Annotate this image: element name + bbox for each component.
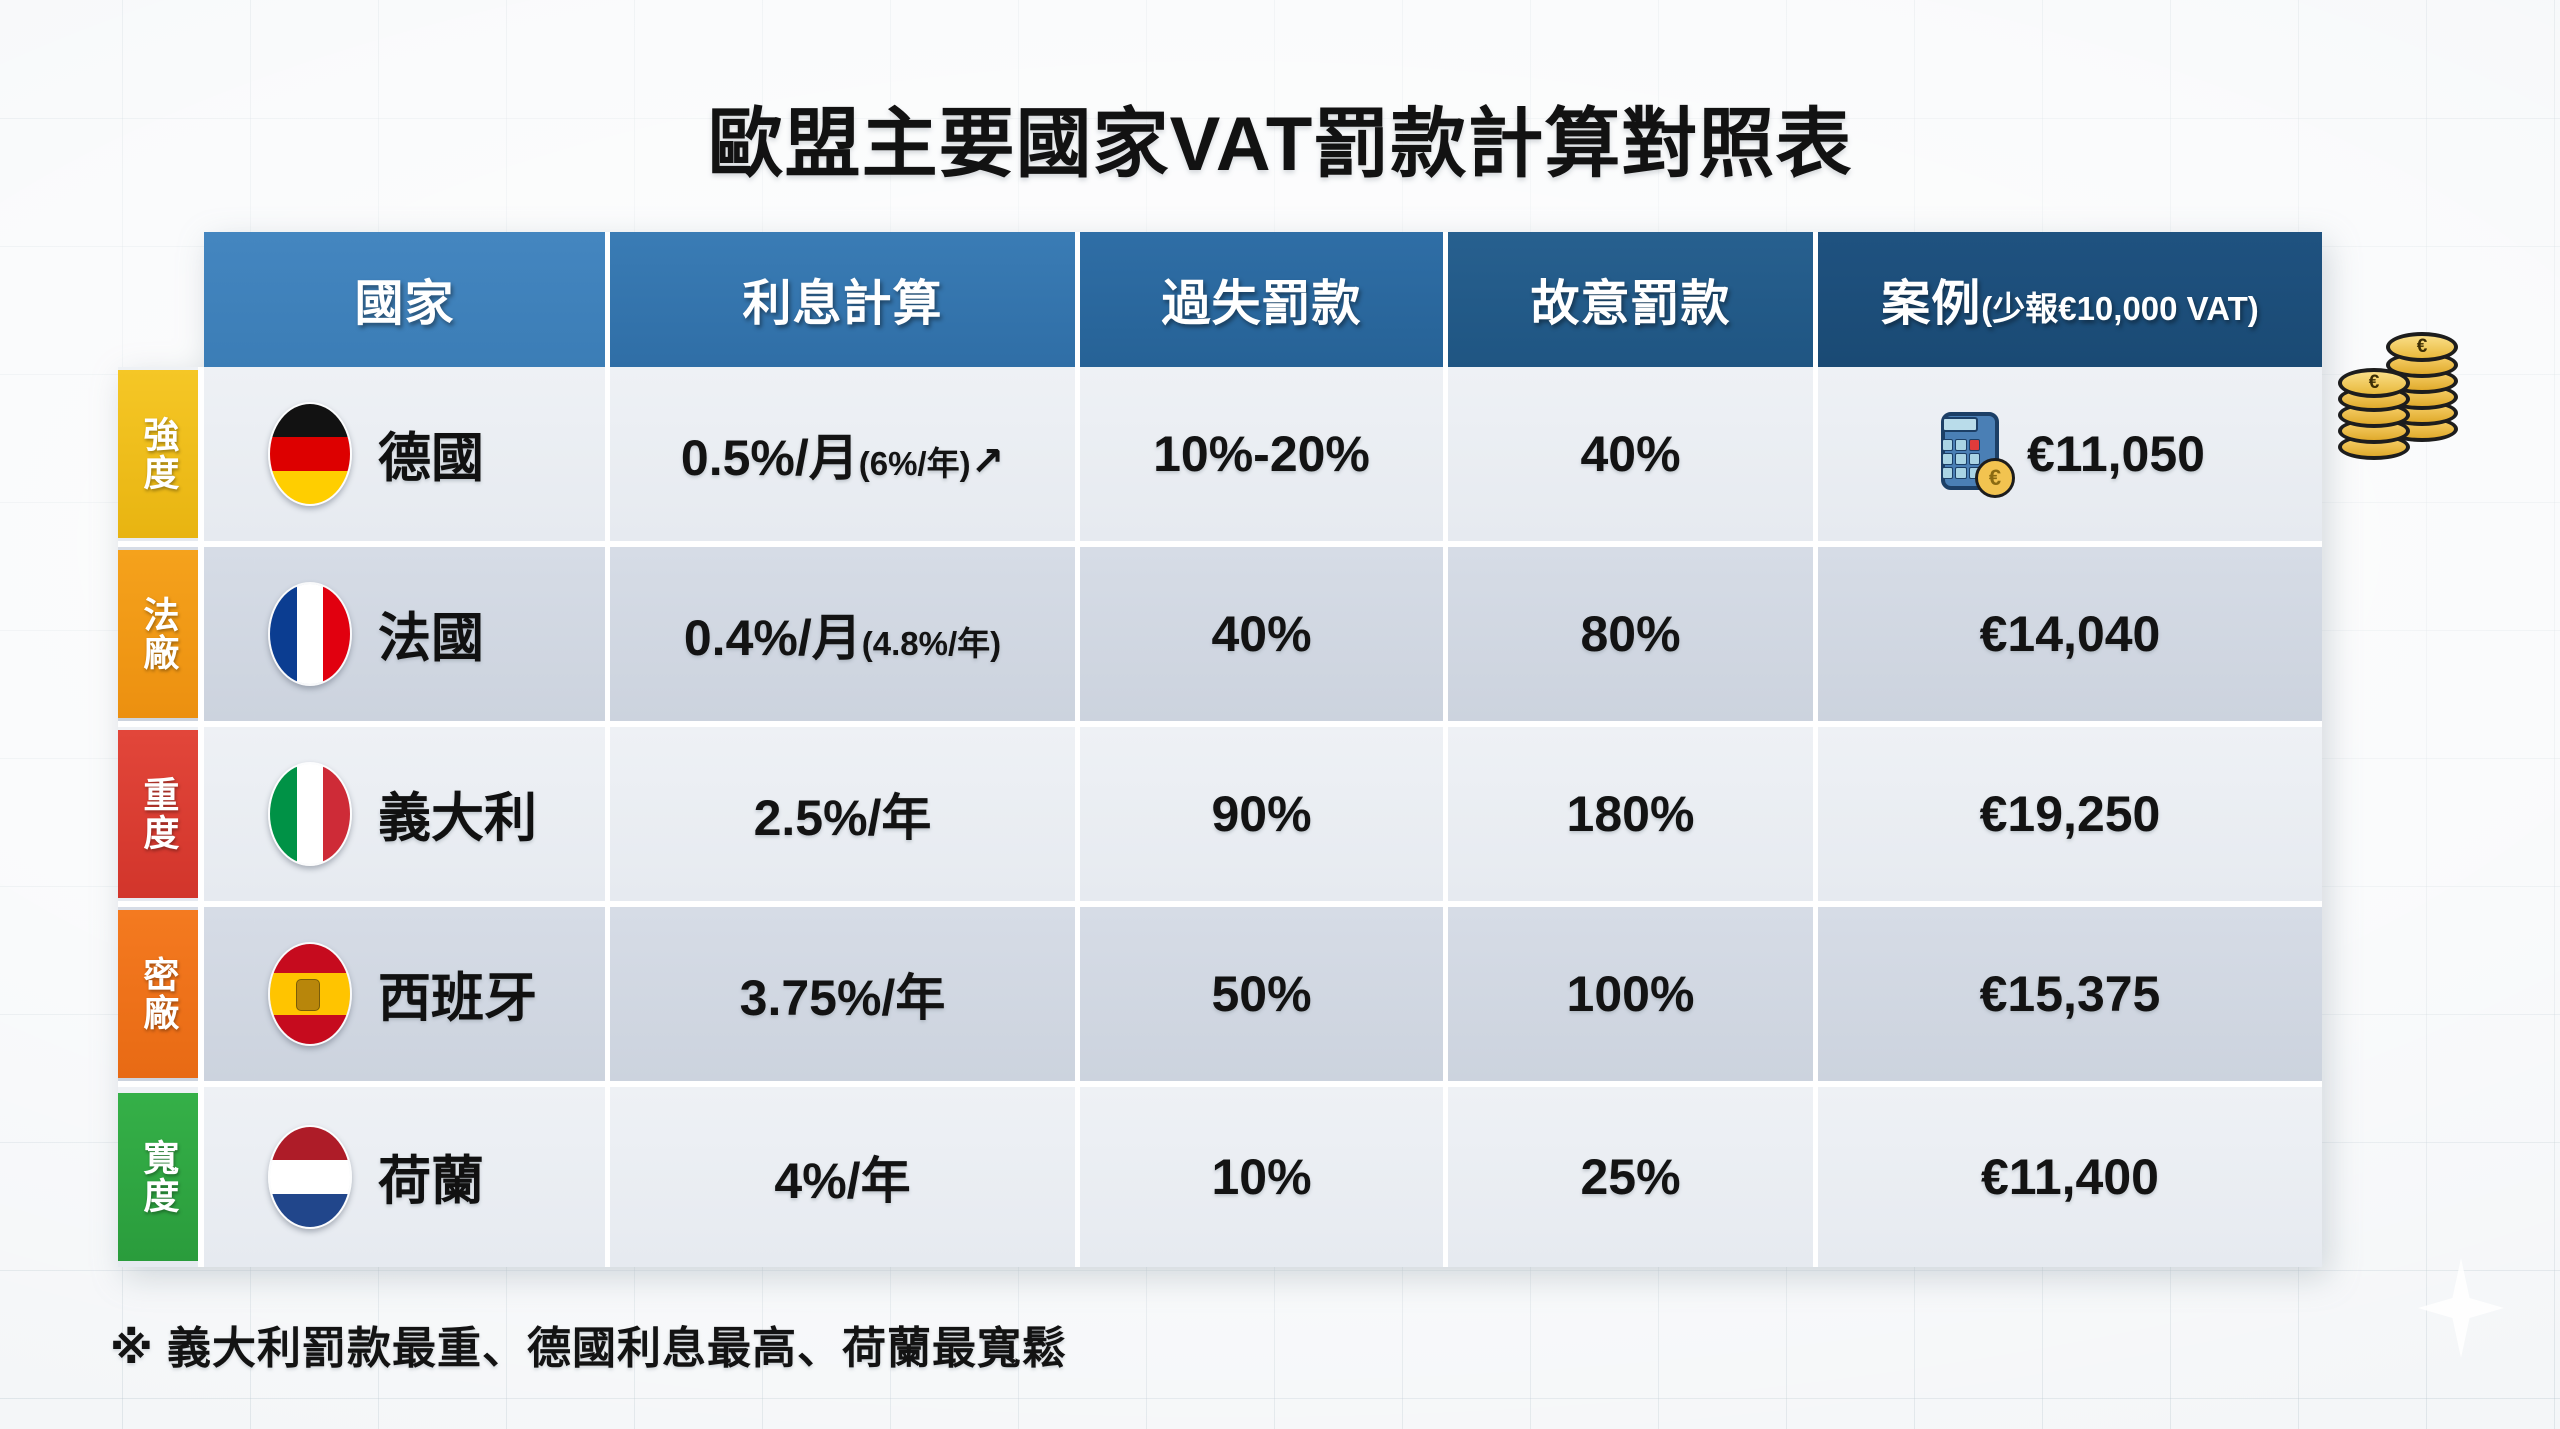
trend-up-icon: ↗ [971,440,1005,484]
case-amount-cell: € €11,050 [1818,367,2322,547]
interest-sub: (6%/年) [859,445,971,482]
country-cell: 西班牙 [204,907,610,1087]
flag-germany-icon [268,402,352,506]
country-cell: 荷蘭 [204,1087,610,1267]
header-severity-spacer [118,232,204,367]
country-cell: 法國 [204,547,610,727]
table-row: 寬度 荷蘭 4%/年 10% 25% €11,400 [118,1087,2322,1267]
intentional-penalty-cell: 25% [1448,1087,1818,1267]
footnote-text: ※ 義大利罰款最重、德國利息最高、荷蘭最寬鬆 [110,1312,1067,1376]
header-case-sub: (少報€10,000 VAT) [1981,290,2259,327]
interest-main: 0.4%/月 [684,610,862,666]
table-header-row: 國家 利息計算 過失罰款 故意罰款 案例(少報€10,000 VAT) [118,232,2322,367]
intentional-penalty-cell: 80% [1448,547,1818,727]
status-badge: 寬度 [118,1093,198,1261]
flag-netherlands-icon [268,1125,352,1229]
table-body: 強度 德國 0.5%/月(6%/年)↗ 10%-20% 40% [118,367,2322,1267]
header-country: 國家 [204,232,610,367]
severity-badge-cell: 法廠 [118,547,204,727]
vat-penalty-table-card: 國家 利息計算 過失罰款 故意罰款 案例(少報€10,000 VAT) 強度 [118,232,2322,1267]
status-badge: 法廠 [118,550,198,718]
negligent-penalty-cell: 90% [1080,727,1448,907]
table-header: 國家 利息計算 過失罰款 故意罰款 案例(少報€10,000 VAT) [118,232,2322,367]
interest-main: 4%/年 [774,1153,910,1209]
interest-main: 0.5%/月 [681,430,859,486]
interest-sub: (4.8%/年) [862,625,1001,662]
header-case-example: 案例(少報€10,000 VAT) [1818,232,2322,367]
table-row: 重度 義大利 2.5%/年 90% 180% €19,250 [118,727,2322,907]
country-cell: 義大利 [204,727,610,907]
country-name: 德國 [378,416,484,492]
flag-france-icon [268,582,352,686]
interest-cell: 2.5%/年 [610,727,1080,907]
intentional-penalty-cell: 100% [1448,907,1818,1087]
interest-main: 2.5%/年 [754,790,932,846]
flag-italy-icon [268,762,352,866]
intentional-penalty-cell: 180% [1448,727,1818,907]
interest-cell: 0.5%/月(6%/年)↗ [610,367,1080,547]
status-badge: 密廠 [118,910,198,1078]
case-amount-cell: €11,400 [1818,1087,2322,1267]
interest-cell: 3.75%/年 [610,907,1080,1087]
case-amount-cell: €15,375 [1818,907,2322,1087]
interest-cell: 4%/年 [610,1087,1080,1267]
severity-badge-cell: 密廠 [118,907,204,1087]
intentional-penalty-cell: 40% [1448,367,1818,547]
header-interest: 利息計算 [610,232,1080,367]
country-name: 義大利 [378,776,537,852]
flag-spain-icon [268,942,352,1046]
negligent-penalty-cell: 10% [1080,1087,1448,1267]
page-title: 歐盟主要國家VAT罰款計算對照表 [0,82,2560,192]
country-name: 法國 [378,596,484,672]
case-amount-cell: €14,040 [1818,547,2322,727]
calculator-euro-icon: € [1935,410,2013,498]
interest-main: 3.75%/年 [740,970,946,1026]
severity-badge-cell: 重度 [118,727,204,907]
header-case-main: 案例 [1881,277,1981,331]
country-name: 荷蘭 [378,1139,484,1215]
severity-badge-cell: 強度 [118,367,204,547]
case-amount-cell: €19,250 [1818,727,2322,907]
negligent-penalty-cell: 50% [1080,907,1448,1087]
table-row: 法廠 法國 0.4%/月(4.8%/年) 40% 80% €14,040 [118,547,2322,727]
status-badge: 強度 [118,370,198,538]
vat-penalty-table: 國家 利息計算 過失罰款 故意罰款 案例(少報€10,000 VAT) 強度 [118,232,2322,1267]
severity-badge-cell: 寬度 [118,1087,204,1267]
header-intentional-penalty: 故意罰款 [1448,232,1818,367]
header-negligent-penalty: 過失罰款 [1080,232,1448,367]
table-row: 密廠 西班牙 3.75%/年 50% 100% €15,375 [118,907,2322,1087]
country-cell: 德國 [204,367,610,547]
case-amount: €11,050 [2027,425,2205,483]
negligent-penalty-cell: 40% [1080,547,1448,727]
status-badge: 重度 [118,730,198,898]
country-name: 西班牙 [378,956,537,1032]
interest-cell: 0.4%/月(4.8%/年) [610,547,1080,727]
negligent-penalty-cell: 10%-20% [1080,367,1448,547]
table-row: 強度 德國 0.5%/月(6%/年)↗ 10%-20% 40% [118,367,2322,547]
